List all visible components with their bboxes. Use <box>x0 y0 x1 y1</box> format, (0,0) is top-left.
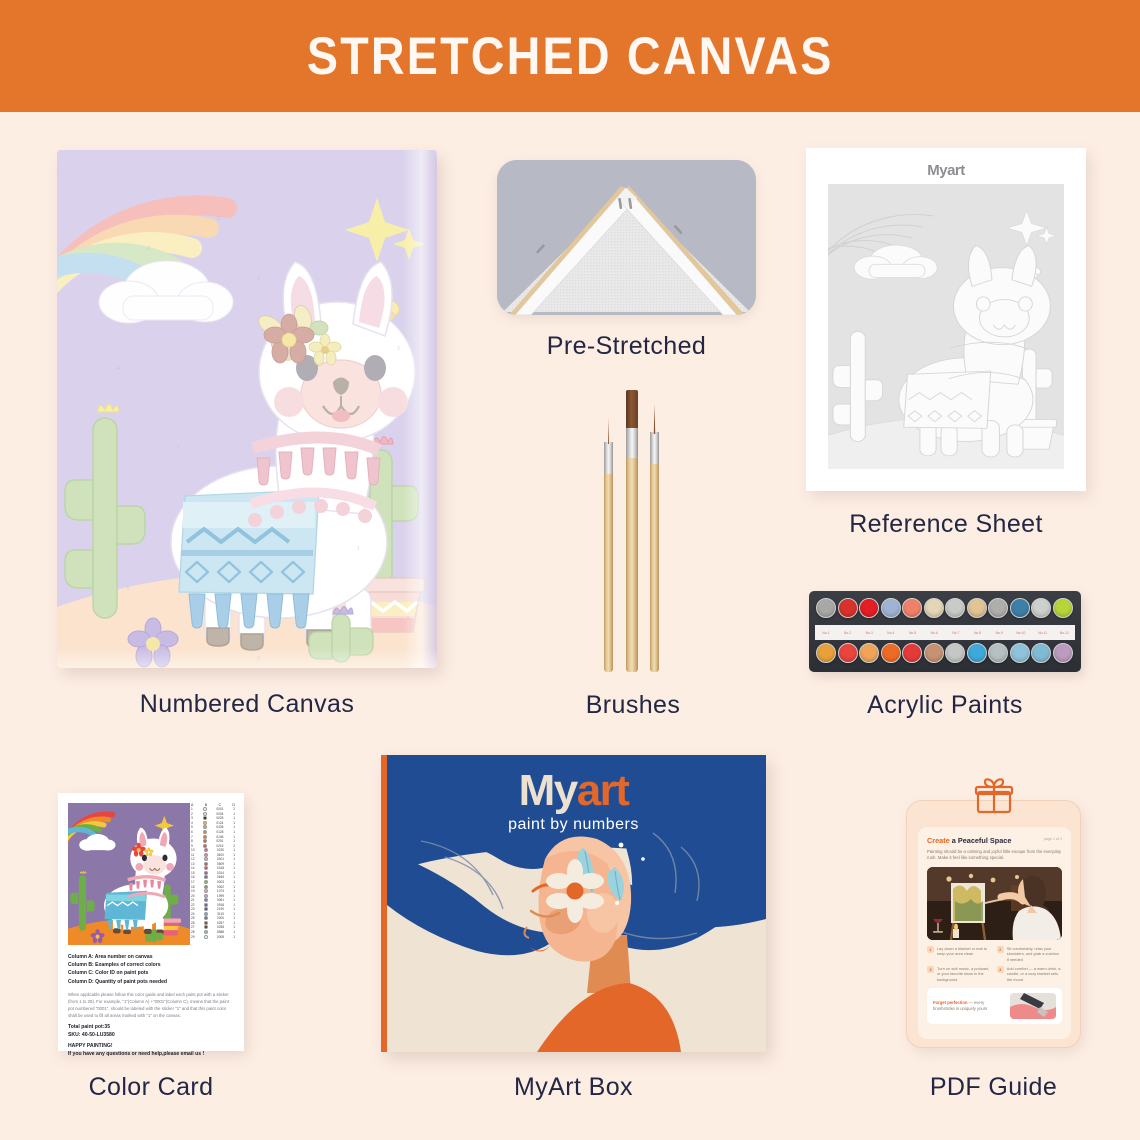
paint-pot-label: No.9 <box>988 631 1010 635</box>
paint-pot <box>838 598 858 618</box>
color-card-swatch <box>203 812 207 816</box>
color-card-area-number: 23 <box>191 907 195 911</box>
paint-pot-label: No.10 <box>1010 631 1032 635</box>
color-card-color-id: 0609 <box>217 862 224 866</box>
color-card-instructions: When applicable please follow this color… <box>68 991 234 1019</box>
color-card-quantity: 1 <box>233 925 235 929</box>
color-card-swatch-table: A B C D 10001220004130025140124150435160… <box>190 803 236 946</box>
color-card-quantity: 1 <box>233 894 235 898</box>
gift-icon <box>974 778 1014 814</box>
caption-pdf-guide: PDF Guide <box>906 1073 1081 1102</box>
color-card-quantity: 1 <box>233 853 235 857</box>
svg-text:2: 2 <box>257 276 260 282</box>
canvas-frame-corner-svg <box>497 160 756 315</box>
svg-text:6: 6 <box>127 586 130 592</box>
paint-pot-label: No.11 <box>1032 631 1054 635</box>
contact-text: If you have any questions or need help,p… <box>68 1051 234 1059</box>
color-card-area-number: 22 <box>191 903 195 907</box>
color-card-quantity: 1 <box>233 816 235 820</box>
color-card-quantity: 1 <box>233 903 235 907</box>
color-card-image: A B C D 10001220004130025140124150435160… <box>58 793 244 1051</box>
color-card-swatch <box>203 830 207 834</box>
box-logo-my: My <box>519 766 577 815</box>
paint-pot <box>859 643 879 663</box>
color-card-color-id: 0002 <box>217 885 224 889</box>
svg-text:3: 3 <box>397 346 400 352</box>
color-card-color-id: 2000 <box>217 916 224 920</box>
color-card-color-id: 0001 <box>216 807 223 811</box>
paint-pot <box>816 643 836 663</box>
caption-reference-sheet: Reference Sheet <box>806 510 1086 539</box>
paint-pot <box>1031 643 1051 663</box>
color-card-area-number: 1 <box>191 807 193 811</box>
color-card-area-number: 11 <box>191 853 194 857</box>
color-card-quantity: 1 <box>233 875 235 879</box>
pdf-tips-list: 1 Lay down a blanket or mat to keep your… <box>927 946 1062 982</box>
color-card-area-number: 28 <box>191 930 195 934</box>
paint-pot-label: No.7 <box>945 631 967 635</box>
color-card-color-id: 0257 <box>217 921 224 925</box>
paint-pot <box>967 643 987 663</box>
color-card-area-number: 4 <box>191 821 193 825</box>
canvas-wrap-edge <box>403 150 437 668</box>
pdf-guide-photo <box>927 867 1062 940</box>
pdf-guide-image: page 1 of 1 Create a Peaceful Space Pain… <box>906 800 1081 1048</box>
color-card-quantity: 1 <box>233 871 235 875</box>
paint-pot <box>988 598 1008 618</box>
color-card-area-number: 15 <box>191 871 195 875</box>
brush-round <box>650 406 659 672</box>
color-card-area-number: 3 <box>191 816 193 820</box>
box-logo-wordmark: Myart <box>381 769 766 813</box>
pre-stretched-image <box>497 160 756 315</box>
svg-text:2: 2 <box>217 216 220 222</box>
numbered-canvas-image: 222 347 118 659 <box>57 150 437 668</box>
pdf-guide-footer: Forget perfection — every brushstroke is… <box>927 988 1062 1024</box>
pdf-tip: 2 Sit comfortably, relax your shoulders,… <box>997 946 1062 962</box>
brushes-image <box>598 390 668 672</box>
box-tagline: paint by numbers <box>381 816 766 834</box>
color-card-color-id: 0400 <box>217 853 224 857</box>
color-card-color-id: 1999 <box>217 894 224 898</box>
color-card-swatch <box>204 894 208 898</box>
caption-pre-stretched: Pre-Stretched <box>497 332 756 361</box>
paint-pot-label: No.4 <box>880 631 902 635</box>
color-card-quantity: 2 <box>233 807 235 811</box>
svg-text:4: 4 <box>117 366 120 372</box>
pdf-guide-description: Painting should be a calming and joyful … <box>927 849 1062 862</box>
color-card-color-id: 0004 <box>216 812 223 816</box>
llama-outline-svg <box>828 184 1064 469</box>
svg-text:1: 1 <box>237 566 240 572</box>
sku-code: SKU: 40-50-LU3580 <box>68 1032 234 1040</box>
product-infographic: STRETCHED CANVAS <box>0 0 1140 1140</box>
legend-line-b: Column B: Examples of correct colors <box>68 961 234 969</box>
color-card-quantity: 1 <box>233 916 235 920</box>
paint-pot <box>988 643 1008 663</box>
color-card-area-number: 17 <box>191 880 195 884</box>
color-card-swatch <box>203 816 207 820</box>
color-card-color-id: 0061 <box>217 898 224 902</box>
color-card-color-id: 3115 <box>217 912 224 916</box>
color-card-quantity: 1 <box>233 889 235 893</box>
color-card-quantity: 1 <box>233 921 235 925</box>
paint-pot <box>945 643 965 663</box>
color-card-swatch <box>203 839 207 843</box>
pdf-tip-number: 4 <box>997 966 1004 973</box>
woman-painting-photo-svg <box>927 867 1062 940</box>
color-card-swatch <box>204 862 208 866</box>
pdf-tip: 4 Add comfort — a warm drink, a candle, … <box>997 966 1062 982</box>
pdf-tip-text: Add comfort — a warm drink, a candle, or… <box>1007 966 1062 982</box>
paint-pot <box>902 598 922 618</box>
color-card-color-id: 0003 <box>217 880 224 884</box>
color-card-swatch <box>203 835 207 839</box>
paint-pot-label: No.5 <box>902 631 924 635</box>
paint-pot <box>1010 643 1030 663</box>
color-card-swatch <box>203 807 207 811</box>
pdf-title-accent: Create <box>927 836 950 845</box>
paint-pot <box>1053 643 1073 663</box>
svg-text:2: 2 <box>147 246 150 252</box>
color-card-area-number: 10 <box>191 848 195 852</box>
color-card-quantity: 1 <box>233 935 235 939</box>
color-card-swatch <box>204 921 208 925</box>
color-card-area-number: 20 <box>191 894 195 898</box>
paint-pot <box>1053 598 1073 618</box>
color-card-area-number: 25 <box>191 916 195 920</box>
color-card-color-id: 0318 <box>217 866 224 870</box>
color-card-color-id: 0008 <box>217 935 224 939</box>
box-logo: Myart paint by numbers <box>381 769 766 834</box>
page-title: STRETCHED CANVAS <box>307 26 834 87</box>
color-card-swatch <box>204 935 208 939</box>
total-paint-pot: Total paint pot:35 <box>68 1024 234 1032</box>
legend-line-a: Column A: Area number on canvas <box>68 953 234 961</box>
color-card-area-number: 6 <box>191 830 193 834</box>
color-card-area-number: 7 <box>191 835 193 839</box>
color-card-color-id: 0291 <box>216 839 223 843</box>
brush-stroke-thumbnail-svg <box>1010 993 1056 1019</box>
color-card-color-id: 0146 <box>216 835 223 839</box>
paint-pot-label: No.3 <box>858 631 880 635</box>
color-card-area-number: 24 <box>191 912 195 916</box>
pdf-footer-accent: Forget perfection <box>933 1000 967 1005</box>
color-card-artwork <box>68 803 190 945</box>
color-card-area-number: 16 <box>191 875 195 879</box>
svg-text:1: 1 <box>357 546 360 552</box>
color-card-area-number: 19 <box>191 889 195 893</box>
happy-painting-text: HAPPY PAINTING! <box>68 1043 234 1051</box>
paint-pot-label: No.2 <box>837 631 859 635</box>
paint-pot-label: No.6 <box>923 631 945 635</box>
color-card-color-id: 0215 <box>216 844 223 848</box>
color-card-area-number: 8 <box>191 839 193 843</box>
pdf-guide-title: Create a Peaceful Space <box>927 836 1062 846</box>
canvas-bottom-edge <box>57 648 437 668</box>
paint-pot <box>967 598 987 618</box>
color-card-quantity: 1 <box>233 866 235 870</box>
paint-pot <box>1010 598 1030 618</box>
color-card-quantity: 1 <box>233 825 235 829</box>
color-card-quantity: 1 <box>233 898 235 902</box>
color-card-color-id: 5588 <box>217 930 224 934</box>
color-card-color-id: 2190 <box>217 907 224 911</box>
paint-pot <box>859 598 879 618</box>
color-card-area-number: 27 <box>191 925 195 929</box>
pdf-tip: 1 Lay down a blanket or mat to keep your… <box>927 946 992 962</box>
color-card-swatch <box>204 871 208 875</box>
color-card-swatch <box>204 930 208 934</box>
color-card-quantity: 1 <box>233 835 235 839</box>
color-card-quantity: 1 <box>233 857 235 861</box>
reference-sheet-logo: Myart <box>806 162 1086 179</box>
pdf-tip-number: 2 <box>997 946 1004 953</box>
pdf-tip-text: Sit comfortably, relax your shoulders, a… <box>1007 946 1062 962</box>
paint-pot <box>924 643 944 663</box>
brush-thin <box>604 430 613 672</box>
pdf-guide-page: page 1 of 1 Create a Peaceful Space Pain… <box>918 827 1071 1039</box>
paint-pot <box>945 598 965 618</box>
pdf-tip-number: 1 <box>927 946 934 953</box>
caption-myart-box: MyArt Box <box>381 1073 766 1102</box>
color-card-swatch <box>203 821 207 825</box>
paint-pot-label: No.12 <box>1053 631 1075 635</box>
color-card-area-number: 26 <box>191 921 195 925</box>
color-card-swatch <box>204 853 208 857</box>
color-card-color-id: 0124 <box>216 821 223 825</box>
reference-sheet-artwork <box>828 184 1064 469</box>
color-card-swatch <box>203 844 207 848</box>
paint-pot <box>838 643 858 663</box>
color-card-color-id: 0435 <box>216 825 223 829</box>
caption-numbered-canvas: Numbered Canvas <box>57 690 437 719</box>
pdf-title-rest: a Peaceful Space <box>950 836 1012 845</box>
color-card-color-id: 0230 <box>217 848 224 852</box>
caption-brushes: Brushes <box>498 691 768 720</box>
legend-line-d: Column D: Quantity of paint pots needed <box>68 978 234 986</box>
color-card-color-id: 0314 <box>217 871 224 875</box>
caption-color-card: Color Card <box>40 1073 262 1102</box>
color-card-rows: 1000122000413002514012415043516012817014… <box>190 807 236 939</box>
paint-pot-label: No.1 <box>815 631 837 635</box>
myart-box-image: Myart paint by numbers <box>381 755 766 1052</box>
color-card-quantity: 2 <box>233 844 235 848</box>
paint-pot <box>902 643 922 663</box>
color-card-row: 2900081 <box>190 934 236 939</box>
paint-pot <box>1031 598 1051 618</box>
color-card-area-number: 21 <box>191 898 195 902</box>
color-card-quantity: 1 <box>233 880 235 884</box>
color-card-swatch <box>204 898 208 902</box>
paint-label-strip: No.1No.2No.3No.4No.5No.6No.7No.8No.9No.1… <box>815 625 1075 640</box>
paint-pot <box>816 598 836 618</box>
pdf-tip-number: 3 <box>927 966 934 973</box>
color-card-quantity: 1 <box>233 862 235 866</box>
color-card-area-number: 14 <box>191 866 195 870</box>
canvas-artwork: 222 347 118 659 <box>57 150 437 668</box>
reference-sheet-image: Myart <box>806 148 1086 491</box>
color-card-swatch <box>204 880 208 884</box>
color-card-text-block: Column A: Area number on canvas Column B… <box>68 953 234 1059</box>
color-card-quantity: 1 <box>233 839 235 843</box>
color-card-area-number: 9 <box>191 844 193 848</box>
color-card-quantity: 1 <box>233 907 235 911</box>
color-card-color-id: 1074 <box>217 889 224 893</box>
color-card-color-id: 0918 <box>217 903 224 907</box>
llama-scene-svg: 222 347 118 659 <box>57 150 437 668</box>
paint-pot <box>924 598 944 618</box>
color-card-quantity: 1 <box>233 812 235 816</box>
svg-text:7: 7 <box>177 446 180 452</box>
acrylic-paints-image: No.1No.2No.3No.4No.5No.6No.7No.8No.9No.1… <box>809 591 1081 672</box>
legend-line-c: Column C: Color ID on paint pots <box>68 969 234 977</box>
color-card-quantity: 1 <box>233 830 235 834</box>
pdf-tip-text: Turn on soft music, a podcast, or your f… <box>937 966 992 982</box>
color-card-area-number: 13 <box>191 862 195 866</box>
paint-pot <box>881 598 901 618</box>
color-card-quantity: 1 <box>233 930 235 934</box>
color-card-swatch <box>204 903 208 907</box>
color-card-color-id: 0258 <box>217 925 224 929</box>
header-banner: STRETCHED CANVAS <box>0 0 1140 112</box>
color-card-color-id: 0401 <box>217 857 224 861</box>
color-card-area-number: 2 <box>191 812 193 816</box>
pdf-tip-text: Lay down a blanket or mat to keep your a… <box>937 946 992 962</box>
color-card-color-id: 0128 <box>216 830 223 834</box>
color-card-color-id: 0645 <box>217 875 224 879</box>
paint-pot-label: No.8 <box>967 631 989 635</box>
color-card-llama-svg <box>68 803 190 945</box>
box-logo-art: art <box>577 766 629 815</box>
brush-flat <box>626 390 638 672</box>
color-card-area-number: 5 <box>191 825 193 829</box>
color-card-quantity: 1 <box>233 821 235 825</box>
color-card-swatch <box>204 912 208 916</box>
color-card-swatch <box>204 848 208 852</box>
svg-text:8: 8 <box>297 616 300 622</box>
pdf-page-label: page 1 of 1 <box>1044 837 1062 841</box>
color-card-area-number: 12 <box>191 857 195 861</box>
pdf-footer-thumbnail <box>1010 993 1056 1019</box>
color-card-swatch <box>204 885 208 889</box>
color-card-swatch <box>204 889 208 893</box>
pdf-tip: 3 Turn on soft music, a podcast, or your… <box>927 966 992 982</box>
pdf-footer-text: Forget perfection — every brushstroke is… <box>933 1000 1005 1012</box>
color-card-area-number: 29 <box>191 935 195 939</box>
color-card-area-number: 18 <box>191 885 195 889</box>
color-card-quantity: 1 <box>233 848 235 852</box>
caption-acrylic-paints: Acrylic Paints <box>809 691 1081 720</box>
paint-pot <box>881 643 901 663</box>
color-card-quantity: 1 <box>233 912 235 916</box>
color-card-quantity: 1 <box>233 885 235 889</box>
color-card-color-id: 0025 <box>216 816 223 820</box>
